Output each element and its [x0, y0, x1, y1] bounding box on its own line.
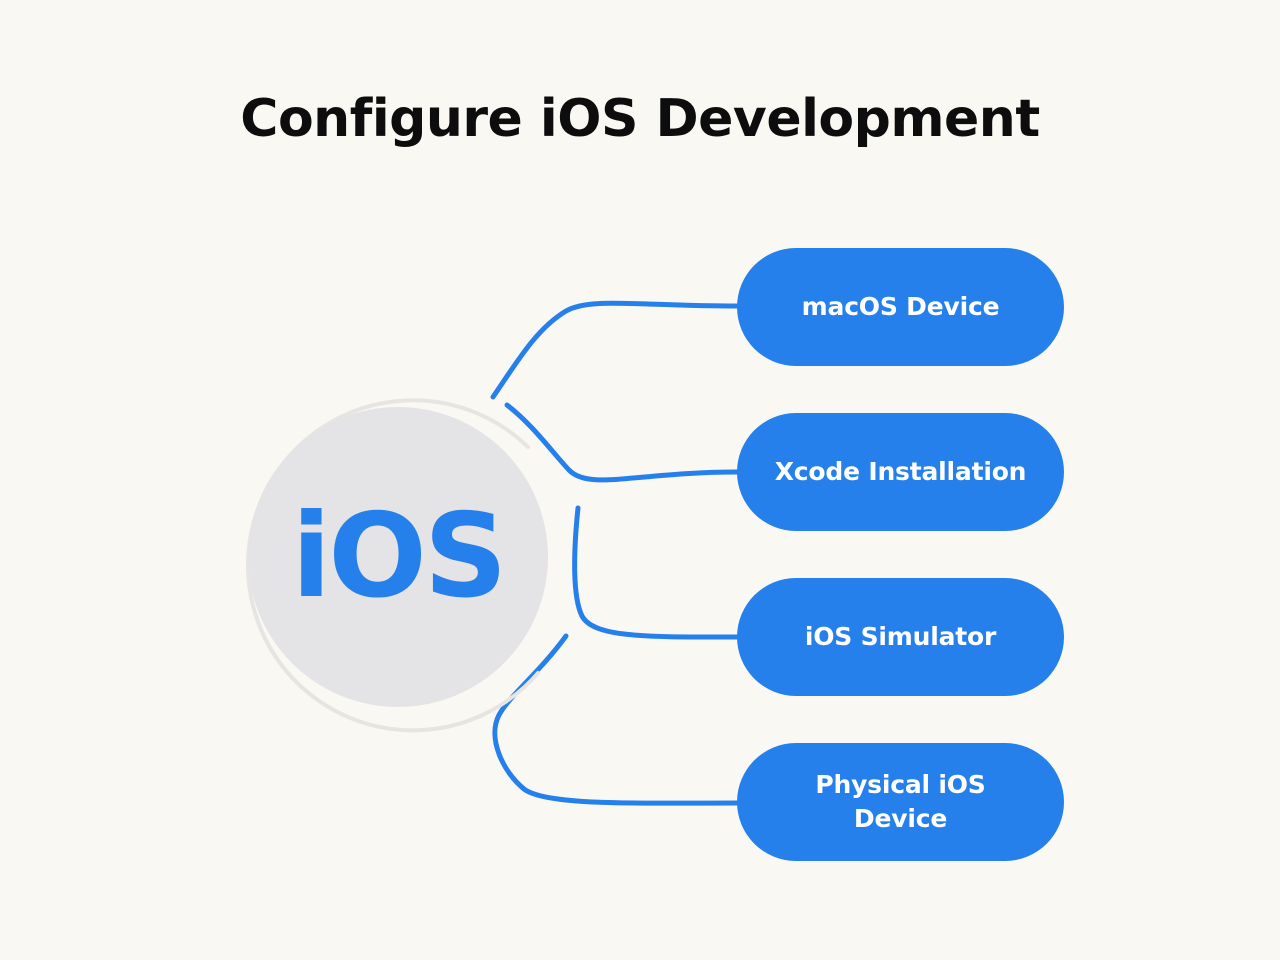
branch-node-physical-ios-device[interactable]: Physical iOS Device [737, 743, 1064, 861]
branch-node-label: iOS Simulator [805, 620, 996, 654]
page-title: Configure iOS Development [0, 91, 1280, 148]
hub-node-ios[interactable]: iOS [208, 367, 588, 747]
hub-label: iOS [248, 407, 548, 707]
branch-node-macos-device[interactable]: macOS Device [737, 248, 1064, 366]
connector-line-3 [575, 508, 737, 637]
branch-node-label: macOS Device [802, 290, 1000, 324]
branch-node-xcode-installation[interactable]: Xcode Installation [737, 413, 1064, 531]
branch-node-label: Physical iOS Device [771, 768, 1030, 836]
branch-node-label: Xcode Installation [775, 455, 1027, 489]
diagram-root: Configure iOS Development iOS macOS Devi… [0, 0, 1280, 960]
branch-node-ios-simulator[interactable]: iOS Simulator [737, 578, 1064, 696]
